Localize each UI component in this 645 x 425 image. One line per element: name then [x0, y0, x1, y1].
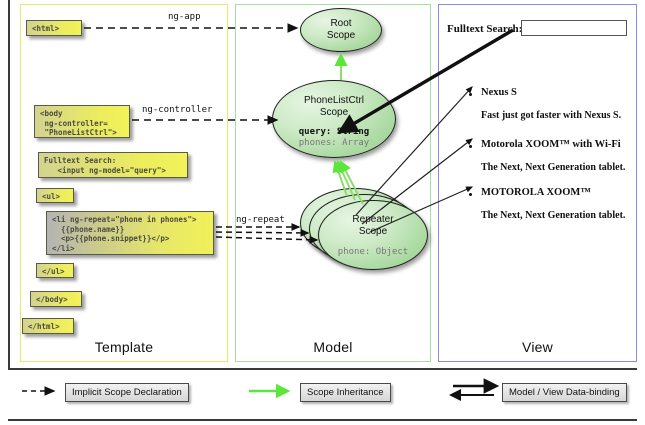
template-box-ul-close-tag: </ul>	[36, 263, 74, 278]
scope-phonelistctrl-scope: PhoneListCtrl Scope query: String phones…	[272, 80, 396, 158]
scope-root-scope-line1: Root	[301, 18, 381, 30]
scope-root-scope-line2: Scope	[301, 30, 381, 42]
edge-label-ng-app: ng-app	[168, 12, 201, 22]
scope-phonelistctrl-scope-prop-phones: phones: Array	[273, 138, 395, 149]
view-list-bullet	[469, 93, 472, 96]
scope-repeater-scope: Repeater Scope phone: Object	[318, 200, 428, 270]
template-box-html-open-tag: <html>	[26, 20, 82, 36]
view-list-bullet	[469, 193, 472, 196]
outer-frame-left	[8, 0, 10, 368]
legend-divider-bottom	[8, 419, 637, 421]
scope-repeater-scope-line1: Repeater	[319, 214, 427, 226]
view-rendered-page: Fulltext Search: Nexus S Fast just got f…	[439, 5, 636, 361]
edge-label-ng-controller: ng-controller	[142, 105, 212, 115]
scope-root-scope: Root Scope	[300, 8, 382, 52]
view-fulltext-search-input[interactable]	[521, 20, 627, 36]
edge-label-ng-repeat: ng-repeat	[236, 215, 285, 225]
legend-divider-top	[8, 368, 637, 370]
template-box-body-close-tag: </body>	[30, 291, 82, 307]
template-box-fulltext-search-input-markup: Fulltext Search: <input ng-model="query"…	[38, 152, 188, 178]
view-list-bullet	[469, 145, 472, 148]
scope-phonelistctrl-scope-prop-query: query: String	[273, 127, 395, 138]
panel-model-label: Model	[236, 339, 430, 355]
panel-model: Model	[235, 4, 431, 362]
view-phone-snippet: The Next, Next Generation tablet.	[481, 210, 625, 221]
template-box-li-ng-repeat-markup: <li ng-repeat="phone in phones"> {{phone…	[46, 211, 214, 255]
legend-scope-inheritance: Scope Inheritance	[300, 383, 391, 402]
scope-repeater-scope-line2: Scope	[319, 226, 427, 238]
template-box-body-ng-controller-tag: <body ng-controller= "PhoneListCtrl">	[34, 105, 130, 138]
diagram-canvas: Template <html> <body ng-controller= "Ph…	[0, 0, 645, 425]
legend-implicit-scope-declaration: Implicit Scope Declaration	[65, 383, 189, 402]
scope-phonelistctrl-scope-line1: PhoneListCtrl	[273, 95, 395, 107]
view-phone-snippet: Fast just got faster with Nexus S.	[481, 110, 621, 121]
panel-template: Template	[20, 4, 228, 362]
legend-model-view-data-binding: Model / View Data-binding	[502, 383, 627, 402]
view-phone-name: Nexus S	[481, 87, 517, 98]
template-box-ul-open-tag: <ul>	[36, 188, 74, 203]
panel-view: View Fulltext Search: Nexus S Fast just …	[438, 4, 637, 362]
panel-template-label: Template	[21, 339, 227, 355]
view-phone-name: Motorola XOOM™ with Wi-Fi	[481, 139, 621, 150]
view-phone-snippet: The Next, Next Generation tablet.	[481, 162, 625, 173]
scope-phonelistctrl-scope-line2: Scope	[273, 107, 395, 119]
view-search-label: Fulltext Search:	[447, 23, 522, 35]
scope-repeater-scope-prop-phone: phone: Object	[319, 247, 427, 258]
template-box-html-close-tag: </html>	[22, 318, 74, 334]
view-phone-name: MOTOROLA XOOM™	[481, 187, 591, 198]
